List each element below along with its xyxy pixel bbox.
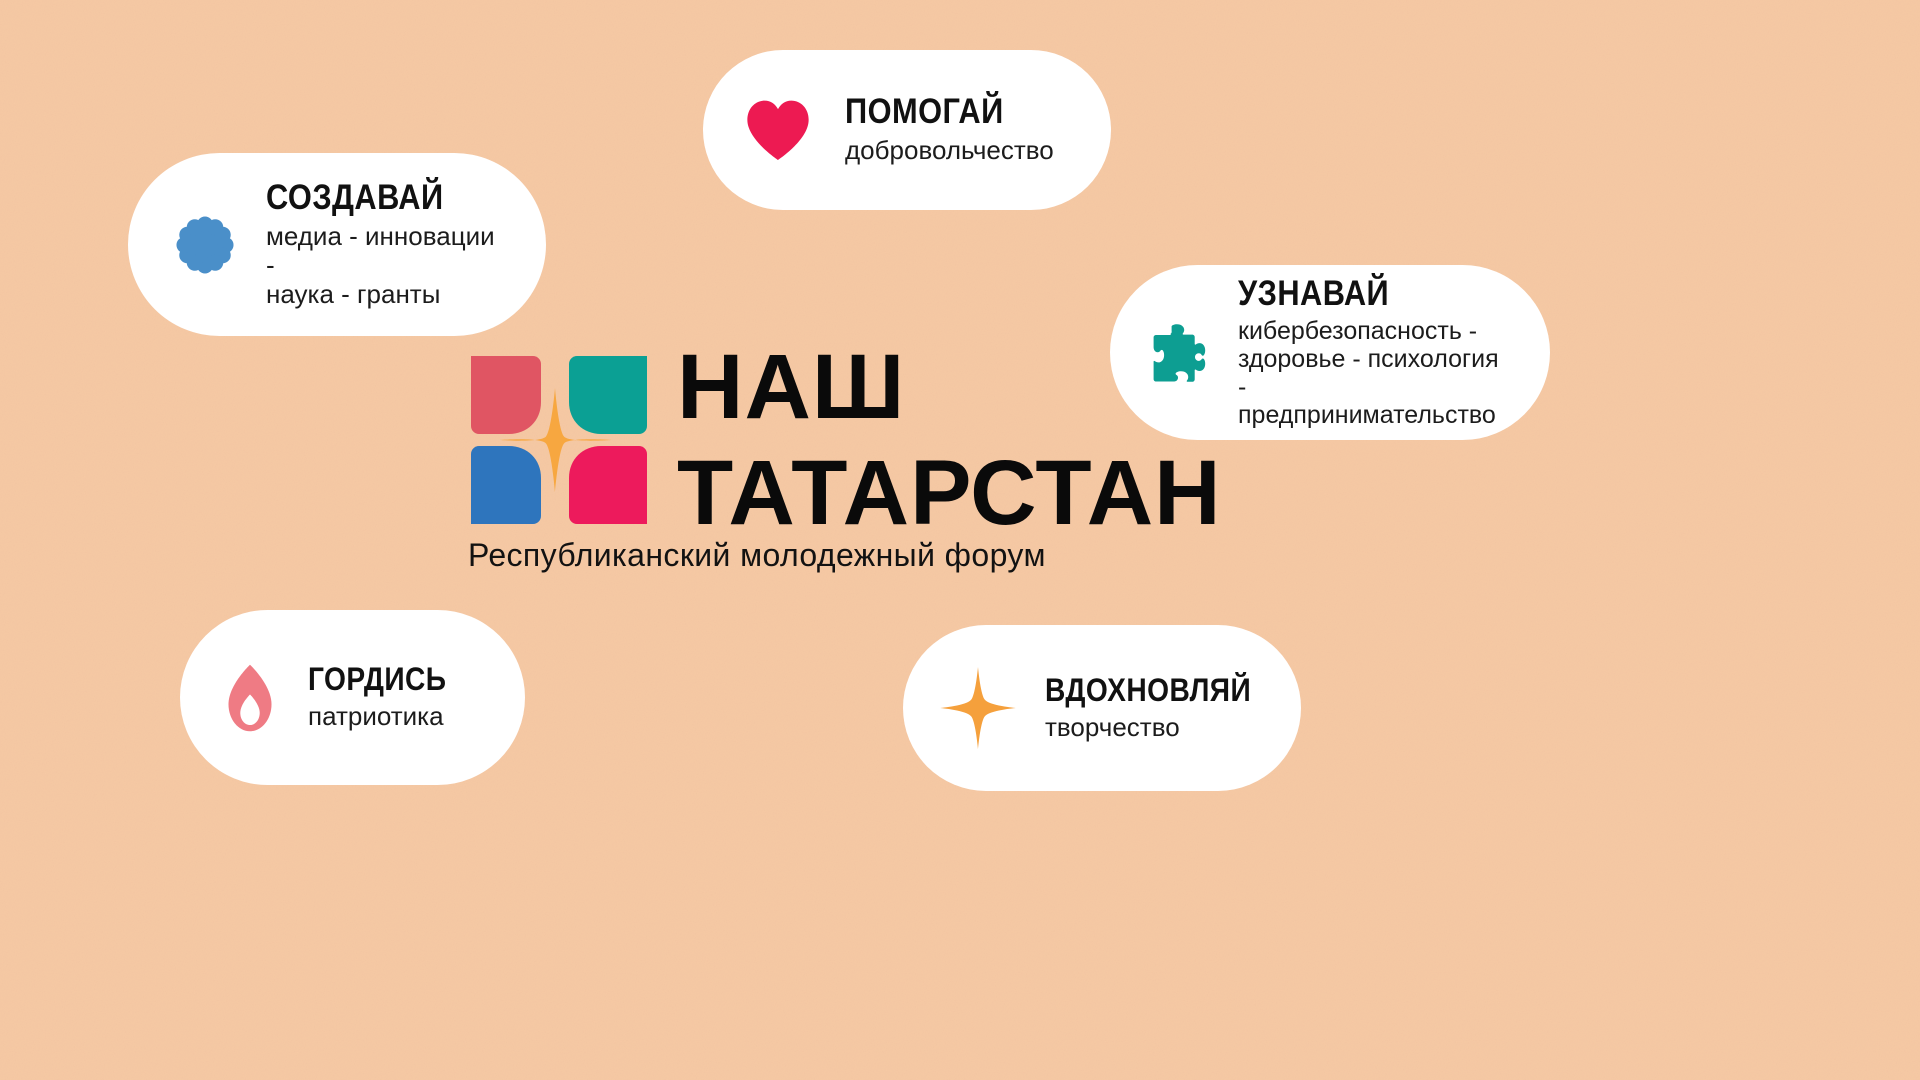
card-text: ГОРДИСЬ патриотика (308, 663, 465, 731)
logo-mark (455, 340, 655, 540)
card-subtitle: патриотика (308, 702, 465, 731)
card-text: ВДОХНОВЛЯЙ творчество (1045, 674, 1279, 742)
flower-icon (174, 214, 236, 276)
wordmark: НАШ ТАТАРСТАН (677, 342, 1222, 538)
card-sozdavay[interactable]: СОЗДАВАЙ медиа - инновации - наука - гра… (128, 153, 546, 336)
sparkle-star-icon (939, 667, 1017, 749)
card-title: СОЗДАВАЙ (266, 180, 472, 215)
card-subtitle: медиа - инновации - наука - гранты (266, 222, 500, 309)
heart-icon (745, 100, 811, 160)
card-title: ГОРДИСЬ (308, 663, 446, 695)
wordmark-line-1: НАШ (677, 342, 1222, 432)
tagline: Республиканский молодежный форум (468, 537, 1046, 574)
card-subtitle: кибербезопасность - здоровье - психологи… (1238, 317, 1510, 429)
petal-top-right (569, 356, 647, 434)
card-title: ПОМОГАЙ (845, 94, 1029, 129)
wordmark-line-2: ТАТАРСТАН (677, 448, 1222, 538)
card-vdohnovlyay[interactable]: ВДОХНОВЛЯЙ творчество (903, 625, 1301, 791)
card-title: ВДОХНОВЛЯЙ (1045, 674, 1251, 706)
petal-bottom-left (471, 446, 541, 524)
petal-bottom-right (569, 446, 647, 524)
card-text: СОЗДАВАЙ медиа - инновации - наука - гра… (266, 180, 500, 309)
petal-top-left (471, 356, 541, 434)
poster-canvas: СОЗДАВАЙ медиа - инновации - наука - гра… (0, 0, 1920, 1080)
card-text: УЗНАВАЙ кибербезопасность - здоровье - п… (1238, 276, 1510, 429)
card-pomogay[interactable]: ПОМОГАЙ добровольчество (703, 50, 1111, 210)
card-text: ПОМОГАЙ добровольчество (845, 94, 1054, 165)
card-gordis[interactable]: ГОРДИСЬ патриотика (180, 610, 525, 785)
card-subtitle: творчество (1045, 713, 1279, 742)
flame-icon (222, 664, 278, 732)
card-subtitle: добровольчество (845, 136, 1054, 165)
card-title: УЗНАВАЙ (1238, 276, 1477, 311)
